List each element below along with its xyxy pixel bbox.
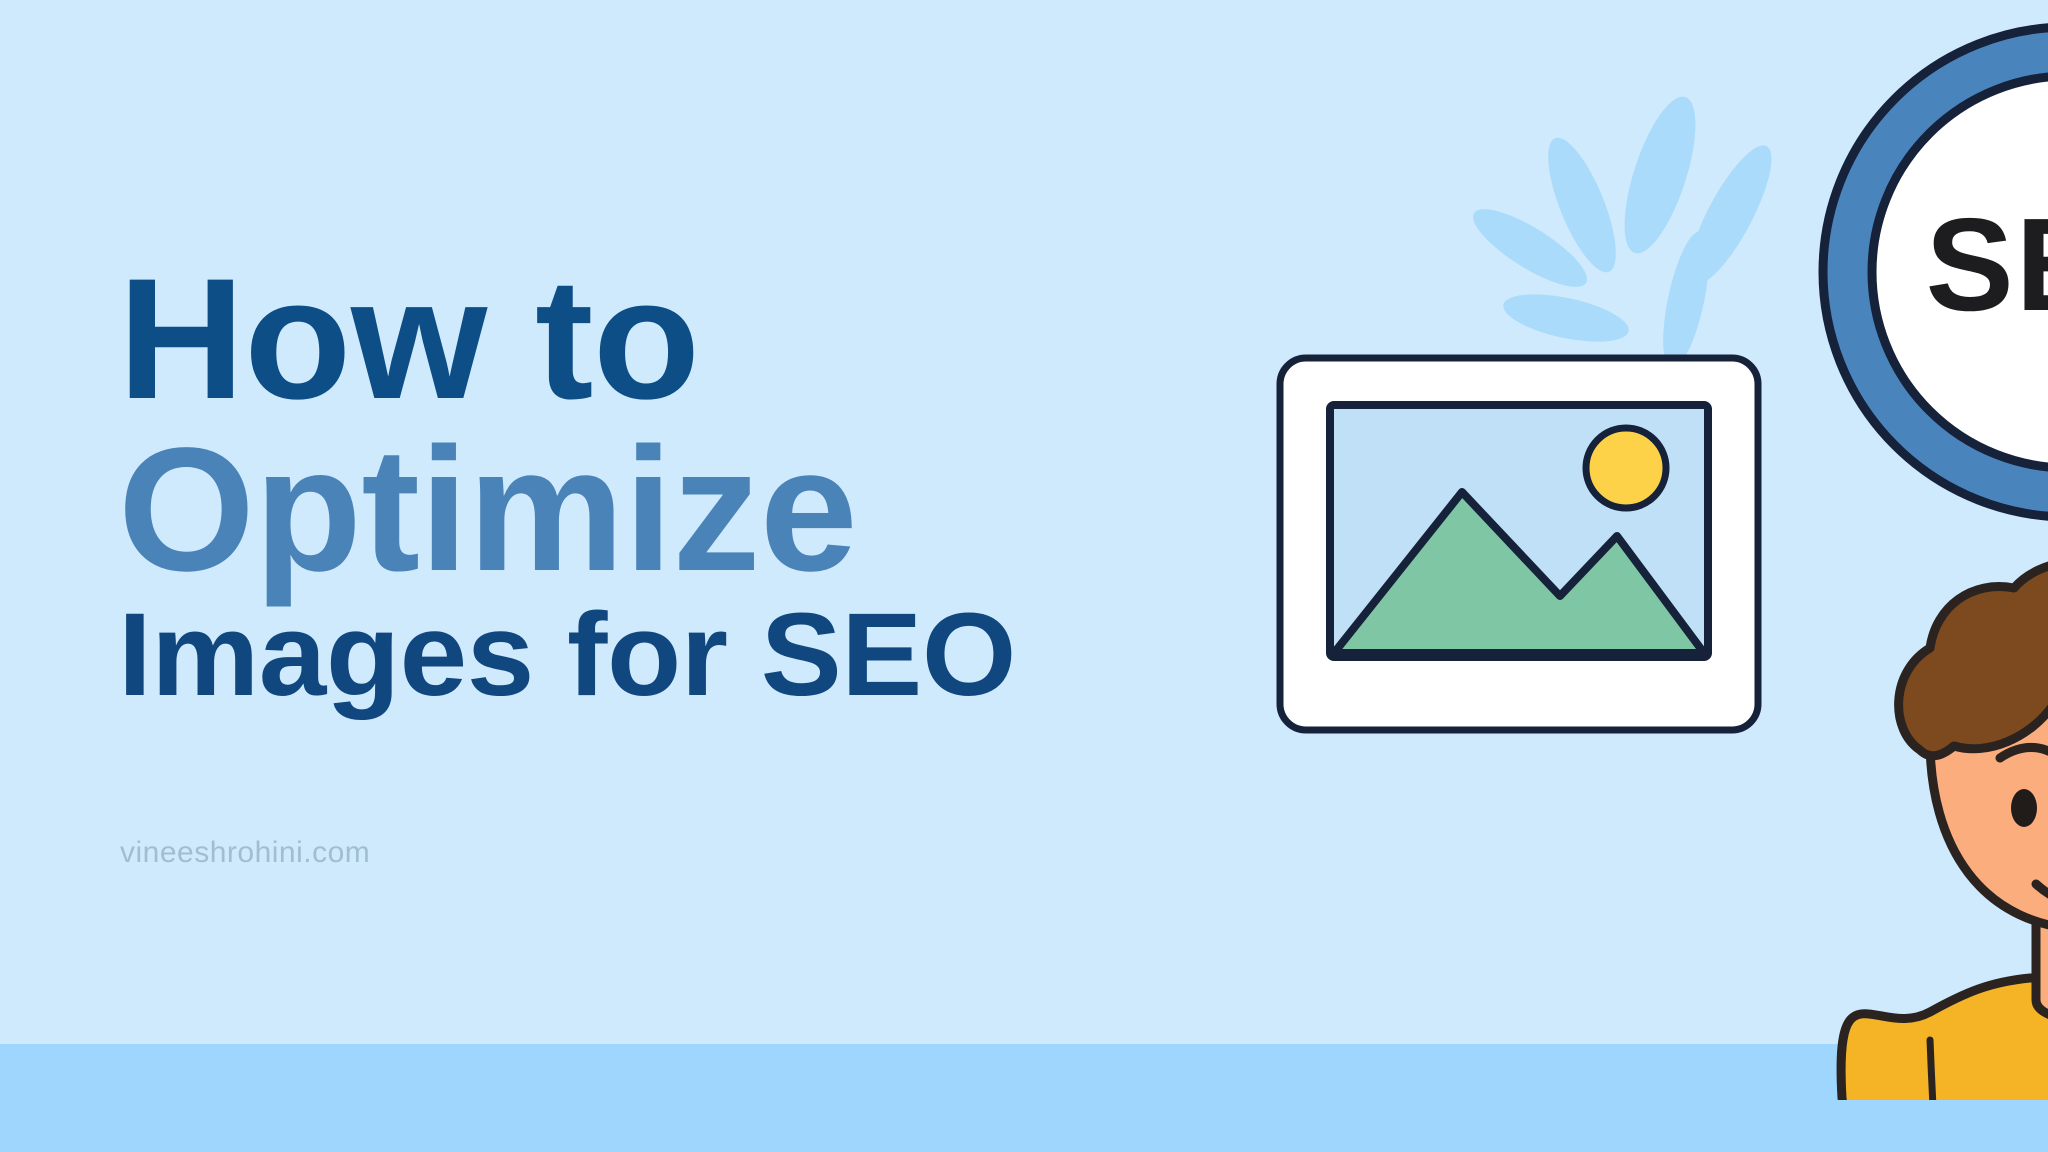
headline-block: How to Optimize Images for SEO [118,258,1238,711]
person-illustration [1841,561,2048,1100]
hair-shape [1899,561,2048,756]
headline-line-1: How to [118,258,1260,421]
watermark-text: vineeshrohini.com [120,836,370,870]
image-placeholder-icon [1280,358,1758,730]
headline-line-2: Optimize [118,427,1238,594]
magnifier-seo-icon: SEO [1823,27,2048,608]
leaves-decoration [1463,89,1786,372]
sun-shape [1586,428,1666,508]
headline-line-3: Images for SEO [118,599,1272,711]
shirt-shape [1841,978,2048,1100]
illustration-group: SEO [1230,0,2048,1100]
seo-label: SEO [1926,191,2048,338]
poster-canvas: How to Optimize Images for SEO vineeshro… [0,0,2048,1152]
eye-left [2011,789,2037,827]
